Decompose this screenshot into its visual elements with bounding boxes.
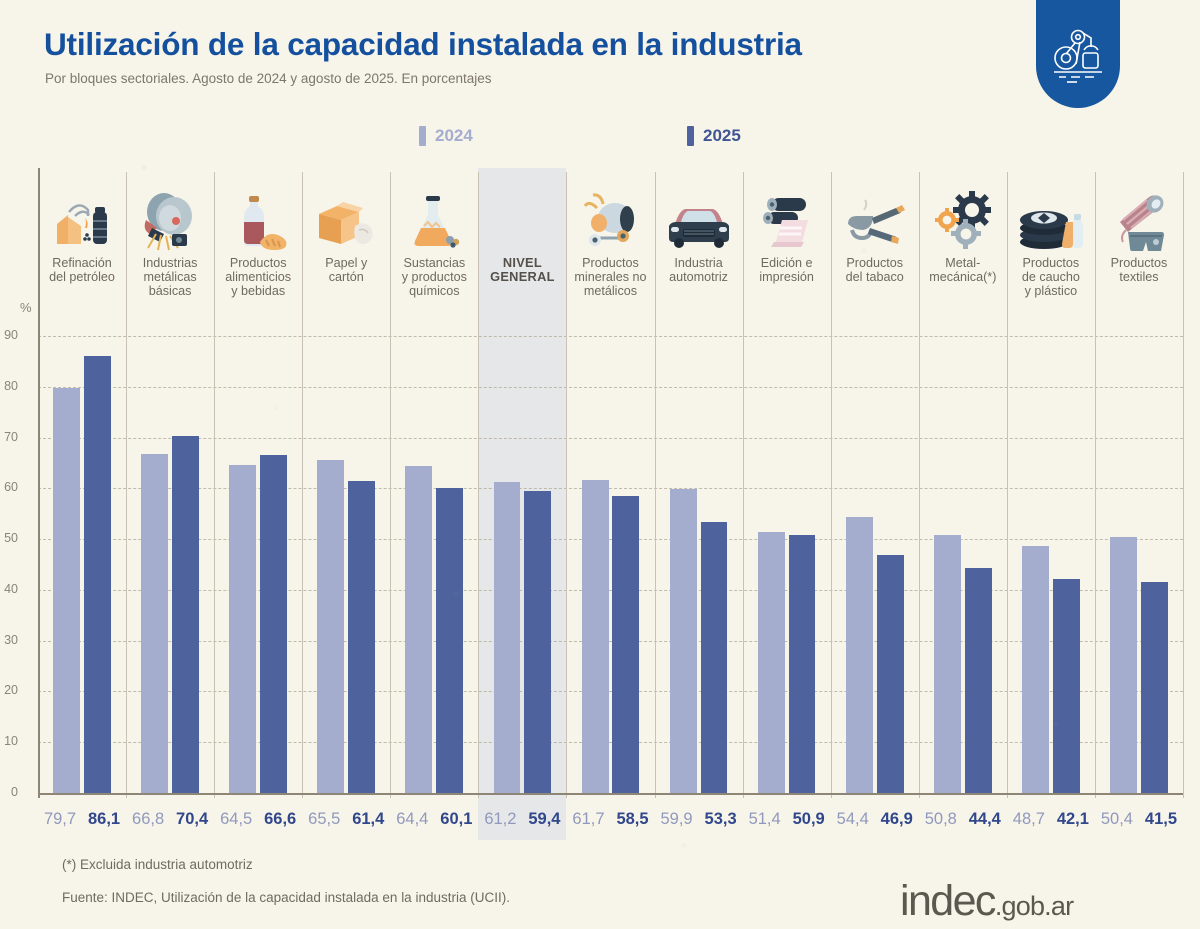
value-label-2024: 61,2: [478, 810, 522, 829]
chart-category-column: Industriasmetálicasbásicas66,870,4: [126, 168, 214, 840]
bar-2024: [494, 482, 521, 793]
bar-group: [38, 215, 126, 793]
column-separator: [302, 172, 303, 798]
bar-group: [919, 215, 1007, 793]
bar-2025: [789, 535, 816, 793]
bar-group: [1095, 215, 1183, 793]
bar-2024: [405, 466, 432, 793]
y-tick-label: 30: [0, 633, 18, 647]
chart-category-column: Industriaautomotriz59,953,3: [655, 168, 743, 840]
bar-group: [655, 215, 743, 793]
bar-2024: [53, 388, 80, 793]
bar-2025: [965, 568, 992, 793]
value-label-2024: 50,4: [1095, 810, 1139, 829]
bar-2025: [172, 436, 199, 793]
value-label-group: 65,561,4: [302, 806, 390, 832]
chart-category-column: Metal-mecánica(*)50,844,4: [919, 168, 1007, 840]
value-label-2024: 64,5: [214, 810, 258, 829]
bar-2024: [934, 535, 961, 793]
column-separator: [919, 172, 920, 798]
legend-label-2024: 2024: [435, 126, 473, 146]
value-label-2025: 42,1: [1051, 810, 1095, 829]
column-separator: [478, 172, 479, 798]
value-label-group: 61,259,4: [478, 806, 566, 832]
y-tick-label: 70: [0, 430, 18, 444]
value-label-group: 50,441,5: [1095, 806, 1183, 832]
indec-logo-suffix: .gob.ar: [995, 891, 1073, 921]
value-label-group: 79,786,1: [38, 806, 126, 832]
bar-2025: [84, 356, 111, 793]
legend-label-2025: 2025: [703, 126, 741, 146]
value-label-group: 64,460,1: [390, 806, 478, 832]
value-label-2025: 41,5: [1139, 810, 1183, 829]
value-label-2025: 58,5: [610, 810, 654, 829]
y-tick-label: 10: [0, 734, 18, 748]
indec-logo: indec.gob.ar: [900, 877, 1073, 926]
value-label-group: 64,566,6: [214, 806, 302, 832]
bar-2025: [436, 488, 463, 793]
bar-2024: [846, 517, 873, 793]
chart-category-column: NIVELGENERAL61,259,4: [478, 168, 566, 840]
value-label-2025: 46,9: [875, 810, 919, 829]
y-axis-line: [38, 168, 40, 798]
indec-badge: [1036, 0, 1120, 108]
page-title: Utilización de la capacidad instalada en…: [44, 26, 802, 63]
bar-2024: [317, 460, 344, 793]
bar-2024: [670, 489, 697, 793]
column-separator: [1007, 172, 1008, 798]
legend: 2024 2025: [0, 124, 1200, 152]
column-separator: [743, 172, 744, 798]
y-tick-label: 60: [0, 480, 18, 494]
header: Utilización de la capacidad instalada en…: [0, 0, 1200, 118]
value-label-2024: 54,4: [831, 810, 875, 829]
bar-group: [302, 215, 390, 793]
value-label-2024: 61,7: [566, 810, 610, 829]
y-tick-label: 50: [0, 531, 18, 545]
value-label-2024: 48,7: [1007, 810, 1051, 829]
value-label-2024: 51,4: [743, 810, 787, 829]
bar-group: [743, 215, 831, 793]
bar-2024: [1022, 546, 1049, 793]
y-tick-label: 0: [0, 785, 18, 799]
value-label-group: 61,758,5: [566, 806, 654, 832]
y-tick-label: 80: [0, 379, 18, 393]
bar-2024: [229, 465, 256, 793]
bar-2025: [524, 491, 551, 793]
value-label-group: 59,953,3: [655, 806, 743, 832]
chart-category-column: Productosminerales nometálicos61,758,5: [566, 168, 654, 840]
value-label-2024: 79,7: [38, 810, 82, 829]
bar-group: [478, 215, 566, 793]
bar-group: [566, 215, 654, 793]
value-label-2025: 44,4: [963, 810, 1007, 829]
value-label-2024: 65,5: [302, 810, 346, 829]
column-separator: [1183, 172, 1184, 798]
value-label-2024: 59,9: [655, 810, 699, 829]
bar-2025: [877, 555, 904, 793]
source-note: Fuente: INDEC, Utilización de la capacid…: [62, 890, 510, 905]
value-label-2025: 61,4: [346, 810, 390, 829]
bar-2024: [758, 532, 785, 793]
bar-2025: [612, 496, 639, 793]
chart-category-column: Productosdel tabaco54,446,9: [831, 168, 919, 840]
bar-group: [390, 215, 478, 793]
bar-2025: [701, 522, 728, 793]
column-separator: [214, 172, 215, 798]
bar-group: [831, 215, 919, 793]
bar-group: [126, 215, 214, 793]
chart-category-column: Sustanciasy productosquímicos64,460,1: [390, 168, 478, 840]
column-separator: [126, 172, 127, 798]
value-label-group: 48,742,1: [1007, 806, 1095, 832]
value-label-group: 54,446,9: [831, 806, 919, 832]
chart-category-column: Productosalimenticiosy bebidas64,566,6: [214, 168, 302, 840]
x-axis-baseline: [38, 793, 1183, 795]
bar-2024: [141, 454, 168, 793]
page-subtitle: Por bloques sectoriales. Agosto de 2024 …: [45, 71, 492, 86]
column-separator: [566, 172, 567, 798]
value-label-group: 66,870,4: [126, 806, 214, 832]
bar-group: [1007, 215, 1095, 793]
chart-category-column: Productosde cauchoy plástico48,742,1: [1007, 168, 1095, 840]
chart-category-column: Edición eimpresión51,450,9: [743, 168, 831, 840]
plot-area: 9080706050403020100 Refinacióndel petról…: [38, 168, 1183, 840]
y-tick-label: 90: [0, 328, 18, 342]
value-label-2025: 53,3: [699, 810, 743, 829]
legend-swatch-2025: [687, 126, 694, 146]
value-label-2025: 50,9: [787, 810, 831, 829]
bar-2025: [1141, 582, 1168, 793]
indec-logo-main: indec: [900, 877, 995, 925]
column-separator: [831, 172, 832, 798]
value-label-group: 51,450,9: [743, 806, 831, 832]
value-label-2025: 70,4: [170, 810, 214, 829]
bar-2024: [1110, 537, 1137, 793]
bar-2025: [1053, 579, 1080, 793]
value-label-2025: 60,1: [434, 810, 478, 829]
y-tick-label: 40: [0, 582, 18, 596]
value-label-group: 50,844,4: [919, 806, 1007, 832]
value-label-2024: 50,8: [919, 810, 963, 829]
legend-item-2025: 2025: [687, 126, 741, 146]
chart-category-column: Refinacióndel petróleo79,786,1: [38, 168, 126, 840]
bar-2025: [348, 481, 375, 793]
column-separator: [1095, 172, 1096, 798]
value-label-2025: 66,6: [258, 810, 302, 829]
bar-group: [214, 215, 302, 793]
bar-2025: [260, 455, 287, 793]
bar-2024: [582, 480, 609, 793]
footnote: (*) Excluida industria automotriz: [62, 857, 253, 872]
value-label-2024: 66,8: [126, 810, 170, 829]
footer: (*) Excluida industria automotriz Fuente…: [0, 845, 1200, 929]
y-tick-label: 20: [0, 683, 18, 697]
column-separator: [655, 172, 656, 798]
value-label-2024: 64,4: [390, 810, 434, 829]
value-label-2025: 86,1: [82, 810, 126, 829]
legend-item-2024: 2024: [419, 126, 473, 146]
chart-category-column: Papel ycartón65,561,4: [302, 168, 390, 840]
value-label-2025: 59,4: [522, 810, 566, 829]
chart-category-column: Productostextiles50,441,5: [1095, 168, 1183, 840]
column-separator: [390, 172, 391, 798]
bar-chart: 9080706050403020100 Refinacióndel petról…: [0, 168, 1200, 840]
y-axis-unit-label: %: [20, 300, 32, 315]
legend-swatch-2024: [419, 126, 426, 146]
